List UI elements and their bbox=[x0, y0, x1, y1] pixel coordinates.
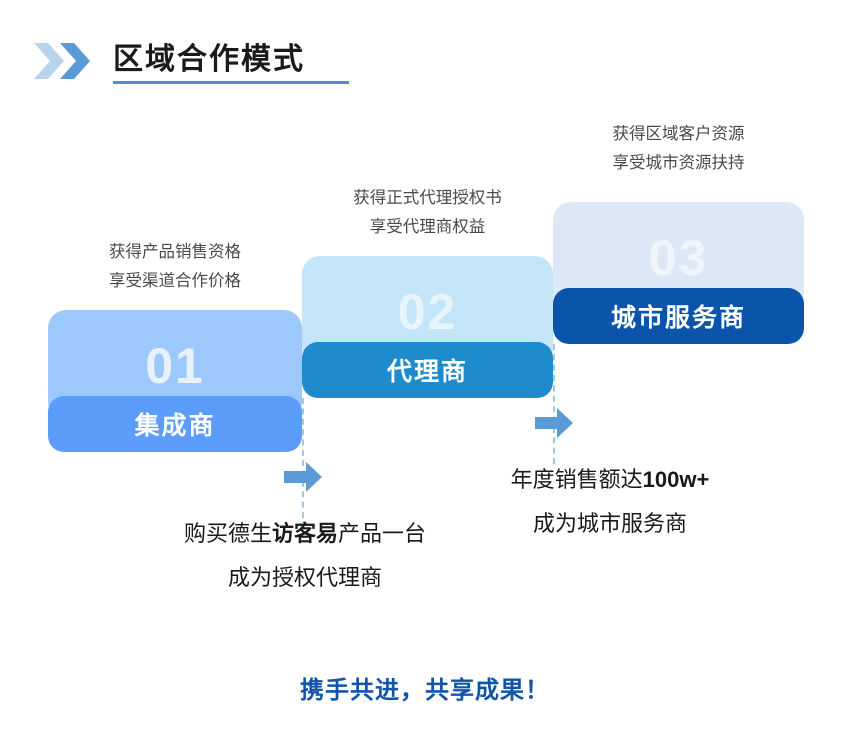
step-requirement-note-2: 年度销售额达100w+ 成为城市服务商 bbox=[435, 458, 785, 546]
note-line-2: 成为授权代理商 bbox=[130, 556, 480, 600]
step-number-03: 03 bbox=[553, 232, 804, 284]
steps-diagram: 获得产品销售资格 享受渠道合作价格 01 集成商 获得正式代理授权书 享受代理商… bbox=[0, 0, 850, 737]
step-caption-line: 享受城市资源扶持 bbox=[553, 149, 804, 178]
dashed-connector bbox=[553, 344, 555, 464]
arrow-right-icon bbox=[284, 462, 322, 492]
step-name-02: 代理商 bbox=[302, 342, 553, 398]
step-caption-line: 获得区域客户资源 bbox=[553, 120, 804, 149]
dashed-connector bbox=[302, 398, 304, 518]
arrow-right-icon bbox=[535, 408, 573, 438]
step-caption-03: 获得区域客户资源 享受城市资源扶持 bbox=[553, 120, 804, 178]
note-line-1: 年度销售额达100w+ bbox=[435, 458, 785, 502]
step-name-01: 集成商 bbox=[48, 396, 302, 452]
step-number-02: 02 bbox=[302, 286, 553, 338]
note-line-1: 购买德生访客易产品一台 bbox=[130, 512, 480, 556]
step-caption-line: 享受渠道合作价格 bbox=[48, 267, 302, 296]
step-caption-01: 获得产品销售资格 享受渠道合作价格 bbox=[48, 238, 302, 296]
footer-tagline: 携手共进，共享成果！ bbox=[0, 670, 850, 705]
note-prefix: 年度销售额达 bbox=[511, 467, 643, 492]
note-suffix: 产品一台 bbox=[338, 521, 426, 546]
step-caption-line: 获得产品销售资格 bbox=[48, 238, 302, 267]
note-line-2: 成为城市服务商 bbox=[435, 502, 785, 546]
step-caption-line: 获得正式代理授权书 bbox=[302, 184, 553, 213]
note-strong: 访客易 bbox=[272, 521, 338, 546]
step-caption-02: 获得正式代理授权书 享受代理商权益 bbox=[302, 184, 553, 242]
step-number-01: 01 bbox=[48, 340, 302, 392]
note-strong: 100w+ bbox=[643, 467, 710, 492]
step-name-03: 城市服务商 bbox=[553, 288, 804, 344]
step-caption-line: 享受代理商权益 bbox=[302, 213, 553, 242]
step-requirement-note-1: 购买德生访客易产品一台 成为授权代理商 bbox=[130, 512, 480, 600]
note-prefix: 购买德生 bbox=[184, 521, 272, 546]
